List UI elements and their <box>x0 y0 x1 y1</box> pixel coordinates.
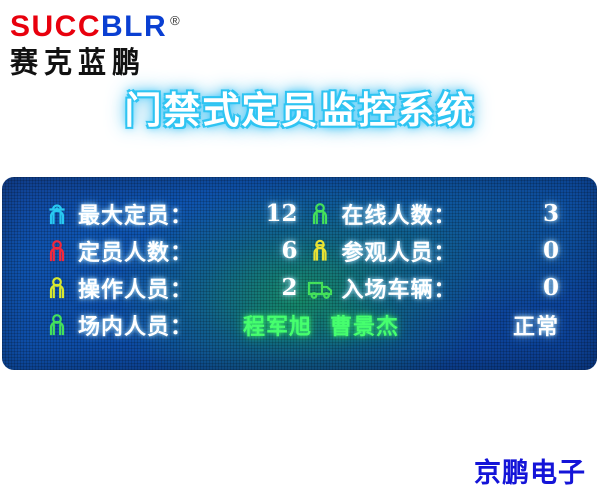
led-label: 最大定员： <box>78 198 193 230</box>
company-logo: SUCCBLR® 赛克蓝鹏 <box>8 4 228 80</box>
logo-wordmark-blue: BLR <box>101 10 167 43</box>
led-field-operator-count: 操作人员： 2 <box>42 272 305 304</box>
led-value: 12 <box>265 200 305 227</box>
logo-wordmark-red: SUCC <box>10 10 101 43</box>
led-row-occupants: 场内人员： 程军旭 曹景杰 正常 <box>42 306 567 343</box>
registered-trademark-icon: ® <box>170 13 180 28</box>
person-icon <box>42 310 72 340</box>
led-label: 场内人员： <box>78 309 193 341</box>
led-value: 3 <box>543 200 567 227</box>
led-value: 0 <box>543 274 567 301</box>
person-hardhat-icon <box>42 199 72 229</box>
truck-icon <box>305 273 335 303</box>
led-value: 2 <box>281 274 305 301</box>
led-field-online-count: 在线人数： 3 <box>305 198 567 230</box>
person-icon <box>305 199 335 229</box>
footer-brand: 京鹏电子 <box>474 451 586 490</box>
occupant-name: 曹景杰 <box>330 309 399 341</box>
led-row: 定员人数： 6 <box>42 232 567 269</box>
led-row: 操作人员： 2 入场车辆： <box>42 269 567 306</box>
led-field-vehicle-count: 入场车辆： 0 <box>305 272 567 304</box>
occupant-name-list: 程军旭 曹景杰 <box>193 309 513 341</box>
led-row: 最大定员： 12 在线人数： <box>42 195 567 232</box>
led-field-assigned-count: 定员人数： 6 <box>42 235 305 267</box>
person-visitor-icon <box>305 236 335 266</box>
led-label: 定员人数： <box>78 235 193 267</box>
led-label: 入场车辆： <box>341 272 456 304</box>
led-value: 6 <box>281 237 305 264</box>
occupant-name: 程军旭 <box>243 309 312 341</box>
page-title: 门禁式定员监控系统 <box>0 88 600 134</box>
led-label: 操作人员： <box>78 272 193 304</box>
logo-wordmark: SUCCBLR® <box>10 4 228 44</box>
led-rows: 最大定员： 12 在线人数： <box>42 191 567 343</box>
person-icon <box>42 236 72 266</box>
led-field-max-capacity: 最大定员： 12 <box>42 198 305 230</box>
logo-chinese-name: 赛克蓝鹏 <box>10 44 228 82</box>
led-field-visitor-count: 参观人员： 0 <box>305 235 567 267</box>
led-display-panel: 最大定员： 12 在线人数： <box>2 177 597 370</box>
led-value: 0 <box>543 237 567 264</box>
led-label: 参观人员： <box>341 235 456 267</box>
person-icon <box>42 273 72 303</box>
led-label: 在线人数： <box>341 198 456 230</box>
status-badge: 正常 <box>513 309 567 341</box>
led-display-content: 最大定员： 12 在线人数： <box>42 191 567 354</box>
